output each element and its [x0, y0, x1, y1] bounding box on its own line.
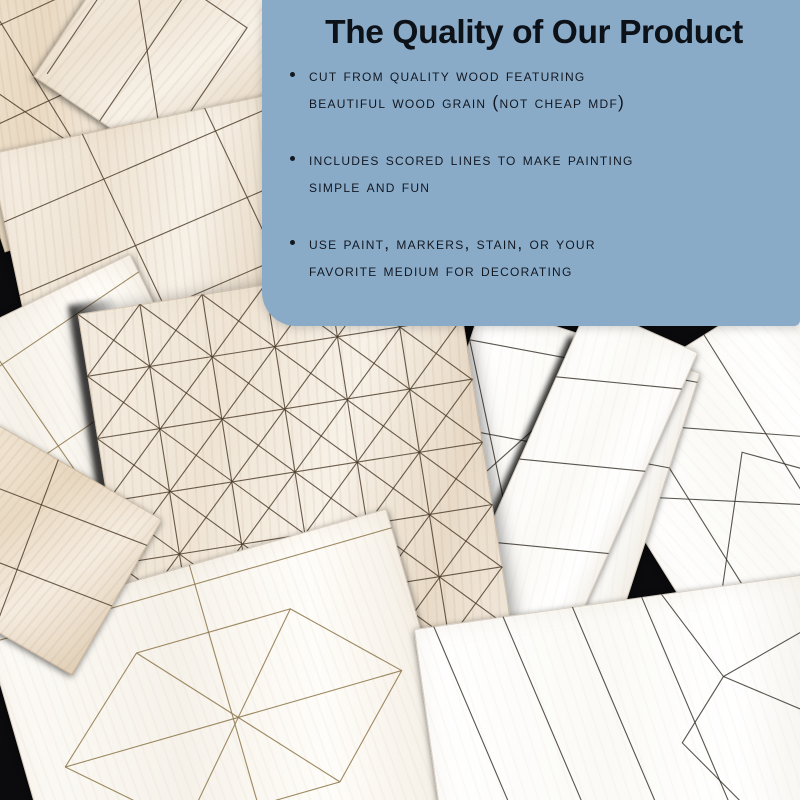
callout-title: The Quality of Our Product	[274, 14, 794, 52]
bullet-line: favorite medium for decorating	[309, 257, 790, 284]
bullet-line: Cut from quality wood featuring	[309, 62, 790, 89]
bullet-line: Includes scored lines to make painting	[309, 146, 790, 173]
bullet-scored-lines: Includes scored lines to make painting s…	[288, 146, 790, 200]
bullet-line: beautiful wood grain (not Cheap MDF)	[309, 89, 790, 116]
quality-callout-panel: The Quality of Our Product Cut from qual…	[262, 0, 800, 326]
bullet-dot-icon	[290, 72, 295, 77]
callout-bullet-list: Cut from quality wood featuring beautifu…	[288, 62, 790, 284]
bullet-line: Use paint, markers, stain, or your	[309, 230, 790, 257]
bullet-mediums: Use paint, markers, stain, or your favor…	[288, 230, 790, 284]
bullet-quality-wood: Cut from quality wood featuring beautifu…	[288, 62, 790, 116]
bullet-dot-icon	[290, 156, 295, 161]
bullet-line: simple and fun	[309, 173, 790, 200]
product-feature-image: The Quality of Our Product Cut from qual…	[0, 0, 800, 800]
bullet-dot-icon	[290, 240, 295, 245]
